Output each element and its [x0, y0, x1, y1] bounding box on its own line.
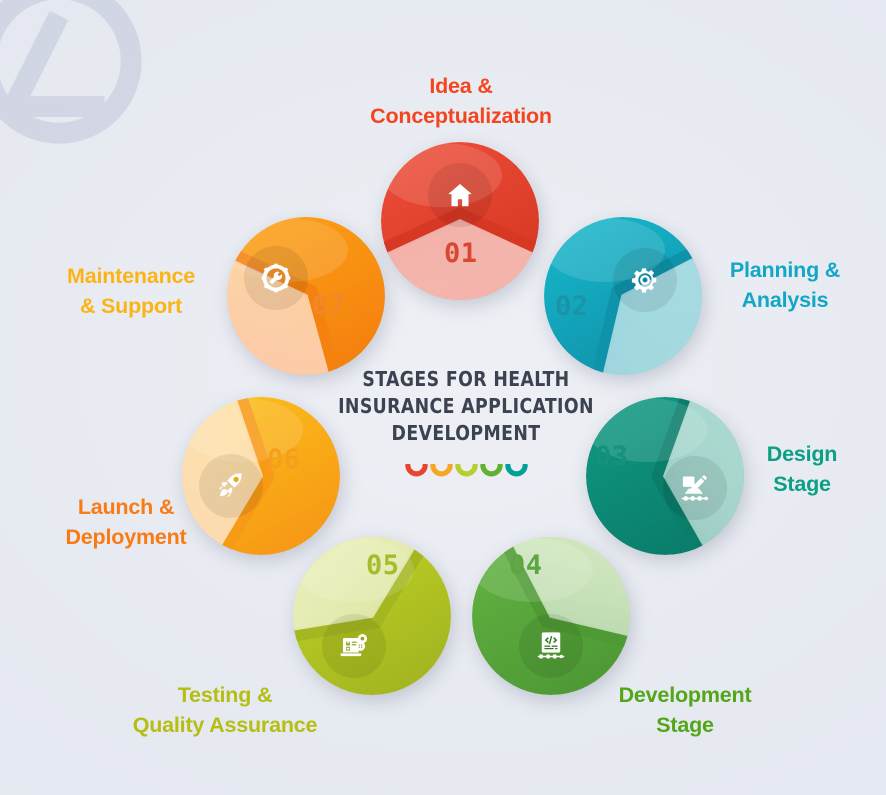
page-title: STAGES FOR HEALTH INSURANCE APPLICATION …	[325, 366, 607, 447]
stage-circle-graphic-05	[292, 536, 452, 696]
infographic-canvas: 01Idea & Conceptualization02Planning & A…	[0, 0, 886, 795]
stage-circle-05[interactable]: 05	[292, 536, 452, 696]
decorative-arc-3	[455, 464, 478, 478]
stage-circle-graphic-07	[226, 216, 386, 376]
stage-circle-graphic-04	[471, 536, 631, 696]
stage-circle-graphic-02	[543, 216, 703, 376]
stage-label-04: Development Stage	[580, 681, 790, 740]
stage-label-02: Planning & Analysis	[690, 256, 880, 315]
decorative-arc-1	[405, 464, 428, 478]
stage-label-05: Testing & Quality Assurance	[104, 681, 346, 740]
decorative-arc-4	[480, 464, 503, 478]
decorative-arcs	[316, 464, 616, 478]
decorative-arc-5	[505, 464, 528, 478]
brand-watermark-logo	[0, 0, 154, 156]
stage-label-03: Design Stage	[722, 440, 882, 499]
stage-label-07: Maintenance & Support	[30, 262, 232, 321]
center-block: STAGES FOR HEALTH INSURANCE APPLICATION …	[316, 366, 616, 478]
stage-label-06: Launch & Deployment	[30, 493, 222, 552]
stage-label-01: Idea & Conceptualization	[330, 72, 592, 131]
stage-circle-07[interactable]: 07	[226, 216, 386, 376]
stage-circle-04[interactable]: 04	[471, 536, 631, 696]
stage-circle-graphic-01	[380, 141, 540, 301]
stage-circle-02[interactable]: 02	[543, 216, 703, 376]
decorative-arc-2	[430, 464, 453, 478]
stage-circle-01[interactable]: 01	[380, 141, 540, 301]
